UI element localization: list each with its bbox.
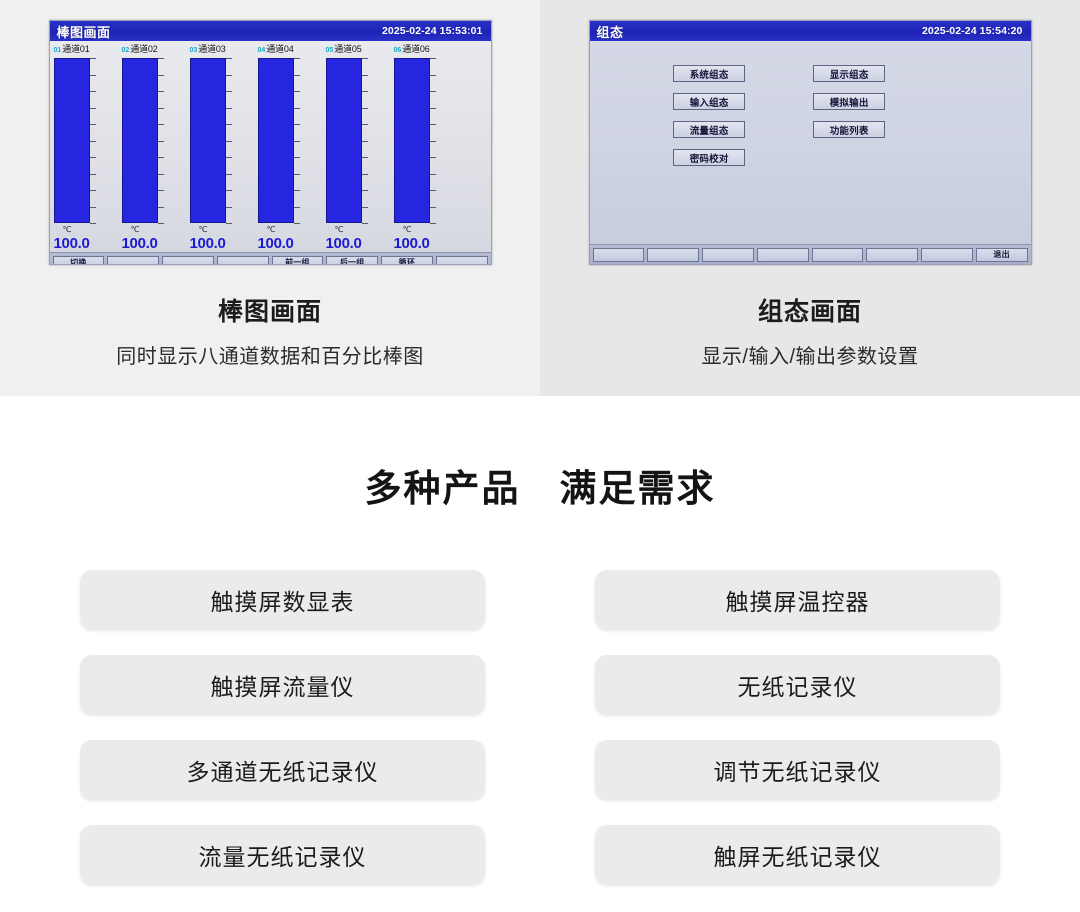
bar-scale-tick: [90, 108, 96, 109]
caption-title-configuration: 组态画面: [540, 292, 1080, 328]
bar-fill: [326, 58, 362, 223]
bar-scale-tick: [90, 190, 96, 191]
bar-scale-tick: [90, 223, 96, 224]
caption-subtitle-configuration: 显示/输入/输出参数设置: [540, 340, 1080, 369]
softkey-blank[interactable]: [757, 248, 809, 262]
products-column-right: 触摸屏温控器无纸记录仪调节无纸记录仪触屏无纸记录仪: [595, 570, 1000, 884]
bar-track: [326, 58, 370, 223]
bar-scale-tick: [226, 75, 232, 76]
bar-channel-name: 通道05: [334, 44, 361, 54]
bar-scale-tick: [430, 141, 436, 142]
configuration-menu-column-left: 系统组态输入组态流量组态密码校对: [673, 65, 745, 166]
softkey-blank[interactable]: [162, 256, 214, 266]
bar-channel-unit: ℃: [190, 224, 234, 235]
bar-fill: [190, 58, 226, 223]
bar-scale-tick: [158, 75, 164, 76]
bar-scale-ticks: [294, 58, 302, 223]
bar-scale-tick: [294, 108, 300, 109]
softkey-5[interactable]: 前一组: [272, 256, 324, 266]
bar-channel-header: 05通道05: [326, 44, 394, 56]
config-menu-button[interactable]: 功能列表: [813, 121, 885, 138]
bar-channel-value: 100.0: [394, 235, 458, 252]
device-screen-bar-graph: 棒图画面 2025-02-24 15:53:01 01通道01℃100.002通…: [49, 20, 492, 265]
bar-scale-tick: [294, 174, 300, 175]
config-menu-button[interactable]: 显示组态: [813, 65, 885, 82]
bar-scale-tick: [90, 157, 96, 158]
bar-scale-tick: [294, 58, 300, 59]
bar-scale-ticks: [158, 58, 166, 223]
products-column-left: 触摸屏数显表触摸屏流量仪多通道无纸记录仪流量无纸记录仪: [80, 570, 485, 884]
bar-scale-tick: [226, 108, 232, 109]
bar-scale-tick: [158, 190, 164, 191]
screen-titlebar: 棒图画面 2025-02-24 15:53:01: [50, 21, 491, 41]
screen-titlebar: 组态 2025-02-24 15:54:20: [590, 21, 1031, 41]
bar-fill: [54, 58, 90, 223]
bar-graph-plot-area: 01通道01℃100.002通道02℃100.003通道03℃100.004通道…: [50, 41, 491, 252]
bar-track: [122, 58, 166, 223]
showcase-panel-configuration: 组态 2025-02-24 15:54:20 系统组态输入组态流量组态密码校对 …: [540, 0, 1080, 396]
bar-track: [394, 58, 438, 223]
configuration-menu-grid: 系统组态输入组态流量组态密码校对 显示组态模拟输出功能列表: [673, 65, 885, 166]
bar-scale-tick: [226, 190, 232, 191]
bar-channel-header: 06通道06: [394, 44, 462, 56]
bar-scale-tick: [362, 141, 368, 142]
bar-scale-tick: [90, 91, 96, 92]
products-heading: 多种产品 满足需求: [0, 396, 1080, 512]
screen-timestamp: 2025-02-24 15:53:01: [382, 25, 483, 37]
bar-channel-value: 100.0: [258, 235, 322, 252]
bar-channel-row: 01通道01℃100.002通道02℃100.003通道03℃100.004通道…: [54, 44, 487, 252]
config-menu-button[interactable]: 密码校对: [673, 149, 745, 166]
bar-channel-value: 100.0: [326, 235, 390, 252]
bar-scale-tick: [430, 91, 436, 92]
bar-scale-tick: [90, 124, 96, 125]
softkey-blank[interactable]: [107, 256, 159, 266]
bar-scale-tick: [362, 91, 368, 92]
bar-channel-unit: ℃: [394, 224, 438, 235]
softkey-blank[interactable]: [436, 256, 488, 266]
product-pill[interactable]: 调节无纸记录仪: [595, 740, 1000, 799]
bar-scale-tick: [430, 207, 436, 208]
bar-scale-tick: [158, 223, 164, 224]
screen-title: 组态: [597, 22, 624, 41]
bar-track: [190, 58, 234, 223]
bar-channel-name: 通道06: [402, 44, 429, 54]
products-section: 多种产品 满足需求 触摸屏数显表触摸屏流量仪多通道无纸记录仪流量无纸记录仪 触摸…: [0, 396, 1080, 912]
bar-scale-tick: [362, 124, 368, 125]
softkey-6[interactable]: 后一组: [326, 256, 378, 266]
bar-track: [258, 58, 302, 223]
bar-channel: 02通道02℃100.0: [122, 44, 190, 252]
config-menu-button[interactable]: 流量组态: [673, 121, 745, 138]
bar-scale-tick: [226, 174, 232, 175]
bar-scale-ticks: [430, 58, 438, 223]
bar-scale-tick: [226, 141, 232, 142]
bar-scale-tick: [362, 207, 368, 208]
bar-scale-tick: [294, 157, 300, 158]
bar-channel-unit: ℃: [258, 224, 302, 235]
product-pill[interactable]: 流量无纸记录仪: [80, 825, 485, 884]
bar-fill: [122, 58, 158, 223]
bar-channel-header: 03通道03: [190, 44, 258, 56]
bar-scale-tick: [90, 207, 96, 208]
bar-channel-number: 02: [122, 46, 131, 55]
bar-scale-ticks: [90, 58, 98, 223]
bar-scale-tick: [362, 108, 368, 109]
screen-title: 棒图画面: [57, 22, 111, 41]
config-menu-button[interactable]: 输入组态: [673, 93, 745, 110]
softkey-blank[interactable]: [812, 248, 864, 262]
bar-scale-tick: [158, 157, 164, 158]
bar-scale-ticks: [362, 58, 370, 223]
bar-channel-value: 100.0: [190, 235, 254, 252]
bar-scale-tick: [158, 141, 164, 142]
bar-scale-tick: [294, 124, 300, 125]
softkey-bar: 切换 前一组后一组循环: [50, 252, 491, 265]
bar-scale-tick: [90, 141, 96, 142]
bar-scale-tick: [294, 223, 300, 224]
bar-channel-number: 03: [190, 46, 199, 55]
screen-timestamp: 2025-02-24 15:54:20: [922, 25, 1023, 37]
softkey-blank[interactable]: [647, 248, 699, 262]
bar-scale-tick: [430, 108, 436, 109]
bar-scale-tick: [294, 190, 300, 191]
configuration-menu-area: 系统组态输入组态流量组态密码校对 显示组态模拟输出功能列表: [590, 41, 1031, 244]
bar-channel: 01通道01℃100.0: [54, 44, 122, 252]
softkey-blank[interactable]: [921, 248, 973, 262]
product-pill[interactable]: 无纸记录仪: [595, 655, 1000, 714]
bar-channel-unit: ℃: [54, 224, 98, 235]
bar-scale-tick: [362, 75, 368, 76]
bar-scale-tick: [362, 58, 368, 59]
bar-channel-name: 通道02: [130, 44, 157, 54]
bar-scale-tick: [362, 157, 368, 158]
bar-scale-tick: [90, 75, 96, 76]
bar-channel-name: 通道03: [198, 44, 225, 54]
bar-scale-tick: [430, 223, 436, 224]
bar-channel-unit: ℃: [326, 224, 370, 235]
bar-channel: 05通道05℃100.0: [326, 44, 394, 252]
bar-fill: [394, 58, 430, 223]
softkey-blank[interactable]: [217, 256, 269, 266]
bar-fill: [258, 58, 294, 223]
softkey-1[interactable]: 切换: [53, 256, 105, 266]
bar-scale-tick: [362, 174, 368, 175]
bar-scale-tick: [226, 58, 232, 59]
bar-scale-tick: [430, 75, 436, 76]
bar-channel: 04通道04℃100.0: [258, 44, 326, 252]
bar-channel-number: 01: [54, 46, 63, 55]
softkey-bar: 退出: [590, 244, 1031, 264]
product-pill[interactable]: 触摸屏温控器: [595, 570, 1000, 629]
bar-scale-tick: [294, 141, 300, 142]
bar-scale-tick: [362, 190, 368, 191]
bar-channel-unit: ℃: [122, 224, 166, 235]
product-pill[interactable]: 触摸屏数显表: [80, 570, 485, 629]
product-pill[interactable]: 多通道无纸记录仪: [80, 740, 485, 799]
bar-channel-number: 05: [326, 46, 335, 55]
bar-scale-tick: [158, 108, 164, 109]
bar-scale-tick: [90, 58, 96, 59]
bar-scale-tick: [226, 223, 232, 224]
bar-scale-tick: [430, 174, 436, 175]
bar-channel: 06通道06℃100.0: [394, 44, 462, 252]
softkey-7[interactable]: 循环: [381, 256, 433, 266]
bar-track: [54, 58, 98, 223]
bar-scale-tick: [294, 91, 300, 92]
bar-scale-tick: [158, 58, 164, 59]
bar-channel-number: 04: [258, 46, 267, 55]
softkey-blank[interactable]: [702, 248, 754, 262]
configuration-menu-column-right: 显示组态模拟输出功能列表: [813, 65, 885, 166]
config-menu-button[interactable]: 模拟输出: [813, 93, 885, 110]
caption-title-bar-graph: 棒图画面: [0, 292, 540, 328]
bar-channel: 03通道03℃100.0: [190, 44, 258, 252]
bar-channel-header: 02通道02: [122, 44, 190, 56]
bar-channel-number: 06: [394, 46, 403, 55]
bar-scale-tick: [226, 124, 232, 125]
config-menu-button[interactable]: 系统组态: [673, 65, 745, 82]
bar-channel-header: 04通道04: [258, 44, 326, 56]
bar-scale-tick: [226, 207, 232, 208]
products-grid: 触摸屏数显表触摸屏流量仪多通道无纸记录仪流量无纸记录仪 触摸屏温控器无纸记录仪调…: [0, 570, 1080, 884]
bar-scale-tick: [362, 223, 368, 224]
showcase-panel-bar-graph: 棒图画面 2025-02-24 15:53:01 01通道01℃100.002通…: [0, 0, 540, 396]
softkey-blank[interactable]: [866, 248, 918, 262]
bar-scale-tick: [294, 207, 300, 208]
bar-scale-tick: [430, 124, 436, 125]
bar-scale-tick: [90, 174, 96, 175]
softkey-blank[interactable]: [593, 248, 645, 262]
bar-scale-tick: [430, 190, 436, 191]
bar-scale-tick: [158, 91, 164, 92]
bar-scale-tick: [294, 75, 300, 76]
bar-channel-value: 100.0: [54, 235, 118, 252]
bar-channel-name: 通道01: [62, 44, 89, 54]
bar-channel-value: 100.0: [122, 235, 186, 252]
bar-scale-tick: [158, 207, 164, 208]
bar-scale-tick: [226, 157, 232, 158]
bar-scale-ticks: [226, 58, 234, 223]
bar-channel-header: 01通道01: [54, 44, 122, 56]
bar-channel-name: 通道04: [266, 44, 293, 54]
bar-scale-tick: [430, 157, 436, 158]
product-pill[interactable]: 触屏无纸记录仪: [595, 825, 1000, 884]
product-pill[interactable]: 触摸屏流量仪: [80, 655, 485, 714]
showcase-section: 棒图画面 2025-02-24 15:53:01 01通道01℃100.002通…: [0, 0, 1080, 396]
softkey-8[interactable]: 退出: [976, 248, 1028, 262]
bar-scale-tick: [430, 58, 436, 59]
device-screen-configuration: 组态 2025-02-24 15:54:20 系统组态输入组态流量组态密码校对 …: [589, 20, 1032, 265]
bar-scale-tick: [226, 91, 232, 92]
bar-scale-tick: [158, 174, 164, 175]
caption-subtitle-bar-graph: 同时显示八通道数据和百分比棒图: [0, 340, 540, 369]
bar-scale-tick: [158, 124, 164, 125]
